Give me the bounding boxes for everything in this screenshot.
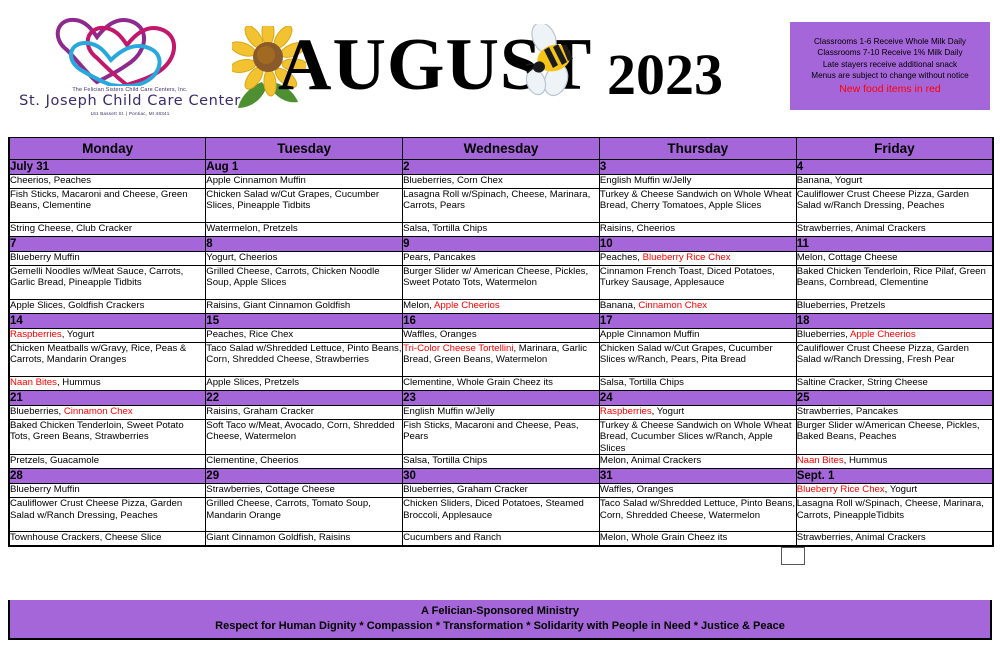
food-item: Fish Sticks, Macaroni and Cheese, Peas, … xyxy=(403,420,578,442)
new-food-item: Raspberries xyxy=(10,329,62,340)
lunch-cell: Chicken Salad w/Cut Grapes, Cucumber Sli… xyxy=(599,343,796,377)
food-item: Blueberries, Pretzels xyxy=(797,300,886,311)
day-number[interactable]: 2 xyxy=(403,160,600,175)
food-item: Saltine Cracker, String Cheese xyxy=(797,377,928,388)
food-item: , Yogurt xyxy=(885,484,918,495)
food-item: Baked Chicken Tenderloin, Rice Pilaf, Gr… xyxy=(797,266,986,288)
day-number[interactable]: July 31 xyxy=(9,160,206,175)
header-thursday: Thursday xyxy=(599,138,796,160)
breakfast-cell: Strawberries, Pancakes xyxy=(796,406,993,420)
food-item: Apple Slices, Goldfish Crackers xyxy=(10,300,144,311)
breakfast-cell: Banana, Yogurt xyxy=(796,175,993,189)
food-item: Salsa, Tortilla Chips xyxy=(403,223,487,234)
food-item: Melon, Whole Grain Cheez its xyxy=(600,532,727,543)
notice-line-1: Classrooms 1-6 Receive Whole Milk Daily xyxy=(814,37,966,48)
food-item: Clementine, Cheerios xyxy=(206,455,298,466)
snack-cell: Melon, Animal Crackers xyxy=(599,455,796,469)
notice-line-3: Late stayers receive additional snack xyxy=(823,60,957,71)
day-number[interactable]: 11 xyxy=(796,237,993,252)
food-item: Lasagna Roll w/Spinach, Cheese, Marinara… xyxy=(797,498,984,520)
new-food-item: Blueberry Rice Chex xyxy=(797,484,885,495)
day-number[interactable]: 7 xyxy=(9,237,206,252)
lunch-cell: Cinnamon French Toast, Diced Potatoes, T… xyxy=(599,266,796,300)
snack-row: String Cheese, Club CrackerWatermelon, P… xyxy=(9,223,993,237)
day-number[interactable]: 10 xyxy=(599,237,796,252)
food-item: Soft Taco w/Meat, Avocado, Corn, Shredde… xyxy=(206,420,394,442)
food-item: String Cheese, Club Cracker xyxy=(10,223,132,234)
lunch-cell: Cauliflower Crust Cheese Pizza, Garden S… xyxy=(796,343,993,377)
breakfast-row: Raspberries, YogurtPeaches, Rice ChexWaf… xyxy=(9,329,993,343)
breakfast-cell: Raisins, Graham Cracker xyxy=(206,406,403,420)
food-item: Gemelli Noodles w/Meat Sauce, Carrots, G… xyxy=(10,266,183,288)
breakfast-cell: Strawberries, Cottage Cheese xyxy=(206,484,403,498)
lunch-cell: Turkey & Cheese Sandwich on Whole Wheat … xyxy=(599,420,796,455)
day-number[interactable]: 25 xyxy=(796,391,993,406)
food-item: Chicken Sliders, Diced Potatoes, Steamed… xyxy=(403,498,584,520)
lunch-cell: Burger Slider w/American Cheese, Pickles… xyxy=(796,420,993,455)
week-date-row: July 31Aug 1234 xyxy=(9,160,993,175)
snack-cell: Strawberries, Animal Crackers xyxy=(796,532,993,547)
food-item: Strawberries, Animal Crackers xyxy=(797,223,926,234)
food-item: Turkey & Cheese Sandwich on Whole Wheat … xyxy=(600,189,792,211)
day-number[interactable]: 22 xyxy=(206,391,403,406)
new-food-item: Blueberry Rice Chex xyxy=(643,252,731,263)
food-item: Strawberries, Pancakes xyxy=(797,406,898,417)
lunch-cell: Gemelli Noodles w/Meat Sauce, Carrots, G… xyxy=(9,266,206,300)
breakfast-cell: Waffles, Oranges xyxy=(403,329,600,343)
breakfast-cell: Cheerios, Peaches xyxy=(9,175,206,189)
food-item: Melon, Cottage Cheese xyxy=(797,252,898,263)
food-item: Pears, Pancakes xyxy=(403,252,476,263)
food-item: Raisins, Giant Cinnamon Goldfish xyxy=(206,300,350,311)
breakfast-row: Blueberries, Cinnamon ChexRaisins, Graha… xyxy=(9,406,993,420)
snack-cell: Melon, Apple Cheerios xyxy=(403,300,600,314)
day-number[interactable]: 28 xyxy=(9,469,206,484)
food-item: Blueberry Muffin xyxy=(10,484,80,495)
lunch-cell: Taco Salad w/Shredded Lettuce, Pinto Bea… xyxy=(206,343,403,377)
food-item: Apple Slices, Pretzels xyxy=(206,377,299,388)
notice-new-items: New food items in red xyxy=(839,83,941,96)
day-number[interactable]: 18 xyxy=(796,314,993,329)
breakfast-cell: English Muffin w/Jelly xyxy=(403,406,600,420)
breakfast-cell: Yogurt, Cheerios xyxy=(206,252,403,266)
snack-cell: Naan Bites, Hummus xyxy=(796,455,993,469)
breakfast-row: Cheerios, PeachesApple Cinnamon MuffinBl… xyxy=(9,175,993,189)
snack-row: Pretzels, GuacamoleClementine, CheeriosS… xyxy=(9,455,993,469)
breakfast-cell: Blueberry Rice Chex, Yogurt xyxy=(796,484,993,498)
food-item: Cucumbers and Ranch xyxy=(403,532,501,543)
snack-row: Townhouse Crackers, Cheese SliceGiant Ci… xyxy=(9,532,993,547)
breakfast-cell: Blueberries, Graham Cracker xyxy=(403,484,600,498)
day-number[interactable]: 24 xyxy=(599,391,796,406)
food-item: Peaches, Rice Chex xyxy=(206,329,293,340)
new-food-item: Raspberries xyxy=(600,406,652,417)
day-number[interactable]: 15 xyxy=(206,314,403,329)
food-item: Strawberries, Animal Crackers xyxy=(797,532,926,543)
day-of-week-header-row: Monday Tuesday Wednesday Thursday Friday xyxy=(9,138,993,160)
food-item: English Muffin w/Jelly xyxy=(600,175,692,186)
snack-cell: Raisins, Cheerios xyxy=(599,223,796,237)
food-item: Cinnamon French Toast, Diced Potatoes, T… xyxy=(600,266,775,288)
breakfast-cell: Raspberries, Yogurt xyxy=(599,406,796,420)
day-number[interactable]: 31 xyxy=(599,469,796,484)
lunch-cell: Baked Chicken Tenderloin, Rice Pilaf, Gr… xyxy=(796,266,993,300)
lunch-cell: Fish Sticks, Macaroni and Cheese, Peas, … xyxy=(403,420,600,455)
breakfast-cell: Peaches, Blueberry Rice Chex xyxy=(599,252,796,266)
ministry-footer: A Felician-Sponsored Ministry Respect fo… xyxy=(8,600,992,640)
food-item: Blueberry Muffin xyxy=(10,252,80,263)
milk-notice-box: Classrooms 1-6 Receive Whole Milk Daily … xyxy=(790,22,990,110)
breakfast-cell: Blueberry Muffin xyxy=(9,484,206,498)
food-item: Yogurt, Cheerios xyxy=(206,252,277,263)
breakfast-row: Blueberry MuffinYogurt, CheeriosPears, P… xyxy=(9,252,993,266)
snack-cell: Salsa, Tortilla Chips xyxy=(403,223,600,237)
food-item: Cheerios, Peaches xyxy=(10,175,91,186)
day-number[interactable]: Aug 1 xyxy=(206,160,403,175)
day-number[interactable]: 14 xyxy=(9,314,206,329)
organization-logo: The Felician Sisters Child Care Centers,… xyxy=(25,8,235,126)
food-item: Chicken Meatballs w/Gravy, Rice, Peas & … xyxy=(10,343,186,365)
food-item: , Yogurt xyxy=(62,329,95,340)
day-number[interactable]: 21 xyxy=(9,391,206,406)
snack-cell: Blueberries, Pretzels xyxy=(796,300,993,314)
week-date-row: 1415161718 xyxy=(9,314,993,329)
food-item: Chicken Salad w/Cut Grapes, Cucumber Sli… xyxy=(206,189,379,211)
snack-cell: Giant Cinnamon Goldfish, Raisins xyxy=(206,532,403,547)
food-item: Watermelon, Pretzels xyxy=(206,223,297,234)
snack-cell: Apple Slices, Pretzels xyxy=(206,377,403,391)
snack-row: Apple Slices, Goldfish CrackersRaisins, … xyxy=(9,300,993,314)
food-item: Grilled Cheese, Carrots, Tomato Soup, Ma… xyxy=(206,498,371,520)
new-food-item: Cinnamon Chex xyxy=(638,300,707,311)
food-item: Strawberries, Cottage Cheese xyxy=(206,484,335,495)
food-item: Waffles, Oranges xyxy=(600,484,674,495)
lunch-row: Baked Chicken Tenderloin, Sweet Potato T… xyxy=(9,420,993,455)
snack-cell: String Cheese, Club Cracker xyxy=(9,223,206,237)
food-item: Banana, xyxy=(600,300,638,311)
food-item: Apple Cinnamon Muffin xyxy=(600,329,700,340)
lunch-cell: Lasagna Roll w/Spinach, Cheese, Marinara… xyxy=(796,498,993,532)
food-item: Turkey & Cheese Sandwich on Whole Wheat … xyxy=(600,420,792,454)
snack-cell: Melon, Whole Grain Cheez its xyxy=(599,532,796,547)
header-friday: Friday xyxy=(796,138,993,160)
new-food-item: Cinnamon Chex xyxy=(64,406,133,417)
header-wednesday: Wednesday xyxy=(403,138,600,160)
new-food-item: Naan Bites xyxy=(797,455,844,466)
food-item: Peaches, xyxy=(600,252,643,263)
breakfast-cell: Raspberries, Yogurt xyxy=(9,329,206,343)
food-item: , Hummus xyxy=(57,377,101,388)
food-item: Baked Chicken Tenderloin, Sweet Potato T… xyxy=(10,420,184,442)
day-number[interactable]: 8 xyxy=(206,237,403,252)
food-item: Blueberries, Graham Cracker xyxy=(403,484,528,495)
lunch-cell: Fish Sticks, Macaroni and Cheese, Green … xyxy=(9,189,206,223)
hearts-logo-icon xyxy=(45,8,215,86)
lunch-cell: Burger Slider w/ American Cheese, Pickle… xyxy=(403,266,600,300)
new-food-item: Naan Bites xyxy=(10,377,57,388)
food-item: Blueberries, xyxy=(10,406,64,417)
day-number[interactable]: 3 xyxy=(599,160,796,175)
breakfast-cell: Melon, Cottage Cheese xyxy=(796,252,993,266)
snack-cell: Clementine, Cheerios xyxy=(206,455,403,469)
lunch-row: Gemelli Noodles w/Meat Sauce, Carrots, G… xyxy=(9,266,993,300)
snack-cell: Salsa, Tortilla Chips xyxy=(403,455,600,469)
food-item: , Yogurt xyxy=(652,406,685,417)
stray-white-box-artifact xyxy=(781,547,805,565)
food-item: Burger Slider w/ American Cheese, Pickle… xyxy=(403,266,588,288)
week-date-row: 28293031Sept. 1 xyxy=(9,469,993,484)
day-number[interactable]: 30 xyxy=(403,469,600,484)
week-date-row: 7891011 xyxy=(9,237,993,252)
breakfast-cell: Blueberries, Apple Cheerios xyxy=(796,329,993,343)
lunch-cell: Grilled Cheese, Carrots, Tomato Soup, Ma… xyxy=(206,498,403,532)
lunch-row: Cauliflower Crust Cheese Pizza, Garden S… xyxy=(9,498,993,532)
food-item: Fish Sticks, Macaroni and Cheese, Green … xyxy=(10,189,188,211)
food-item: Banana, Yogurt xyxy=(797,175,863,186)
year-label: 2023 xyxy=(607,46,723,104)
breakfast-cell: English Muffin w/Jelly xyxy=(599,175,796,189)
snack-cell: Pretzels, Guacamole xyxy=(9,455,206,469)
day-number[interactable]: 23 xyxy=(403,391,600,406)
snack-cell: Saltine Cracker, String Cheese xyxy=(796,377,993,391)
month-title-block: AUGUST 2023 xyxy=(232,22,792,127)
food-item: English Muffin w/Jelly xyxy=(403,406,495,417)
logo-center-name: St. Joseph Child Care Center xyxy=(19,93,241,109)
menu-calendar-table: Monday Tuesday Wednesday Thursday Friday… xyxy=(8,137,994,547)
notice-line-2: Classrooms 7-10 Receive 1% Milk Daily xyxy=(817,48,962,59)
food-item: Giant Cinnamon Goldfish, Raisins xyxy=(206,532,350,543)
lunch-row: Chicken Meatballs w/Gravy, Rice, Peas & … xyxy=(9,343,993,377)
lunch-cell: Turkey & Cheese Sandwich on Whole Wheat … xyxy=(599,189,796,223)
snack-cell: Townhouse Crackers, Cheese Slice xyxy=(9,532,206,547)
food-item: Melon, xyxy=(403,300,434,311)
snack-cell: Clementine, Whole Grain Cheez its xyxy=(403,377,600,391)
snack-cell: Naan Bites, Hummus xyxy=(9,377,206,391)
new-food-item: Tri-Color Cheese Tortellini xyxy=(403,343,513,354)
snack-cell: Strawberries, Animal Crackers xyxy=(796,223,993,237)
lunch-cell: Baked Chicken Tenderloin, Sweet Potato T… xyxy=(9,420,206,455)
lunch-cell: Chicken Salad w/Cut Grapes, Cucumber Sli… xyxy=(206,189,403,223)
snack-cell: Raisins, Giant Cinnamon Goldfish xyxy=(206,300,403,314)
food-item: Burger Slider w/American Cheese, Pickles… xyxy=(797,420,980,442)
food-item: Raisins, Cheerios xyxy=(600,223,675,234)
day-number[interactable]: 29 xyxy=(206,469,403,484)
food-item: Townhouse Crackers, Cheese Slice xyxy=(10,532,161,543)
food-item: Clementine, Whole Grain Cheez its xyxy=(403,377,553,388)
snack-row: Naan Bites, HummusApple Slices, Pretzels… xyxy=(9,377,993,391)
breakfast-cell: Waffles, Oranges xyxy=(599,484,796,498)
snack-cell: Banana, Cinnamon Chex xyxy=(599,300,796,314)
food-item: Blueberries, xyxy=(797,329,850,340)
food-item: Grilled Cheese, Carrots, Chicken Noodle … xyxy=(206,266,379,288)
lunch-cell: Chicken Sliders, Diced Potatoes, Steamed… xyxy=(403,498,600,532)
food-item: Cauliflower Crust Cheese Pizza, Garden S… xyxy=(797,343,969,365)
header-monday: Monday xyxy=(9,138,206,160)
food-item: Raisins, Graham Cracker xyxy=(206,406,314,417)
lunch-row: Fish Sticks, Macaroni and Cheese, Green … xyxy=(9,189,993,223)
food-item: Salsa, Tortilla Chips xyxy=(403,455,487,466)
new-food-item: Apple Cheerios xyxy=(850,329,916,340)
lunch-cell: Soft Taco w/Meat, Avocado, Corn, Shredde… xyxy=(206,420,403,455)
food-item: Taco Salad w/Shredded Lettuce, Pinto Bea… xyxy=(600,498,795,520)
lunch-cell: Cauliflower Crust Cheese Pizza, Garden S… xyxy=(796,189,993,223)
breakfast-cell: Pears, Pancakes xyxy=(403,252,600,266)
lunch-cell: Cauliflower Crust Cheese Pizza, Garden S… xyxy=(9,498,206,532)
lunch-cell: Chicken Meatballs w/Gravy, Rice, Peas & … xyxy=(9,343,206,377)
breakfast-row: Blueberry MuffinStrawberries, Cottage Ch… xyxy=(9,484,993,498)
food-item: Blueberries, Corn Chex xyxy=(403,175,503,186)
food-item: Lasagna Roll w/Spinach, Cheese, Marinara… xyxy=(403,189,590,211)
breakfast-cell: Blueberry Muffin xyxy=(9,252,206,266)
lunch-cell: Taco Salad w/Shredded Lettuce, Pinto Bea… xyxy=(599,498,796,532)
new-food-item: Apple Cheerios xyxy=(434,300,500,311)
day-number[interactable]: 9 xyxy=(403,237,600,252)
food-item: Apple Cinnamon Muffin xyxy=(206,175,306,186)
breakfast-cell: Blueberries, Corn Chex xyxy=(403,175,600,189)
lunch-cell: Tri-Color Cheese Tortellini, Marinara, G… xyxy=(403,343,600,377)
snack-cell: Watermelon, Pretzels xyxy=(206,223,403,237)
food-item: Chicken Salad w/Cut Grapes, Cucumber Sli… xyxy=(600,343,773,365)
logo-address: 161 Bassett St. | Pontiac, MI 48341 xyxy=(91,111,170,116)
breakfast-cell: Apple Cinnamon Muffin xyxy=(599,329,796,343)
food-item: Cauliflower Crust Cheese Pizza, Garden S… xyxy=(10,498,182,520)
calendar-page: The Felician Sisters Child Care Centers,… xyxy=(0,0,1000,662)
day-number[interactable]: 16 xyxy=(403,314,600,329)
snack-cell: Cucumbers and Ranch xyxy=(403,532,600,547)
day-number[interactable]: 4 xyxy=(796,160,993,175)
snack-cell: Salsa, Tortilla Chips xyxy=(599,377,796,391)
footer-line-1: A Felician-Sponsored Ministry xyxy=(421,604,579,619)
day-number[interactable]: 17 xyxy=(599,314,796,329)
lunch-cell: Lasagna Roll w/Spinach, Cheese, Marinara… xyxy=(403,189,600,223)
breakfast-cell: Peaches, Rice Chex xyxy=(206,329,403,343)
food-item: Melon, Animal Crackers xyxy=(600,455,701,466)
bee-icon xyxy=(520,24,582,98)
day-number[interactable]: Sept. 1 xyxy=(796,469,993,484)
header-tuesday: Tuesday xyxy=(206,138,403,160)
food-item: Pretzels, Guacamole xyxy=(10,455,99,466)
lunch-cell: Grilled Cheese, Carrots, Chicken Noodle … xyxy=(206,266,403,300)
food-item: Cauliflower Crust Cheese Pizza, Garden S… xyxy=(797,189,969,211)
notice-line-4: Menus are subject to change without noti… xyxy=(811,71,968,82)
snack-cell: Apple Slices, Goldfish Crackers xyxy=(9,300,206,314)
page-header: The Felician Sisters Child Care Centers,… xyxy=(0,0,1000,132)
food-item: Taco Salad w/Shredded Lettuce, Pinto Bea… xyxy=(206,343,401,365)
breakfast-cell: Blueberries, Cinnamon Chex xyxy=(9,406,206,420)
week-date-row: 2122232425 xyxy=(9,391,993,406)
food-item: , Hummus xyxy=(844,455,888,466)
food-item: Salsa, Tortilla Chips xyxy=(600,377,684,388)
breakfast-cell: Apple Cinnamon Muffin xyxy=(206,175,403,189)
footer-line-2: Respect for Human Dignity * Compassion *… xyxy=(215,619,785,634)
food-item: Waffles, Oranges xyxy=(403,329,477,340)
